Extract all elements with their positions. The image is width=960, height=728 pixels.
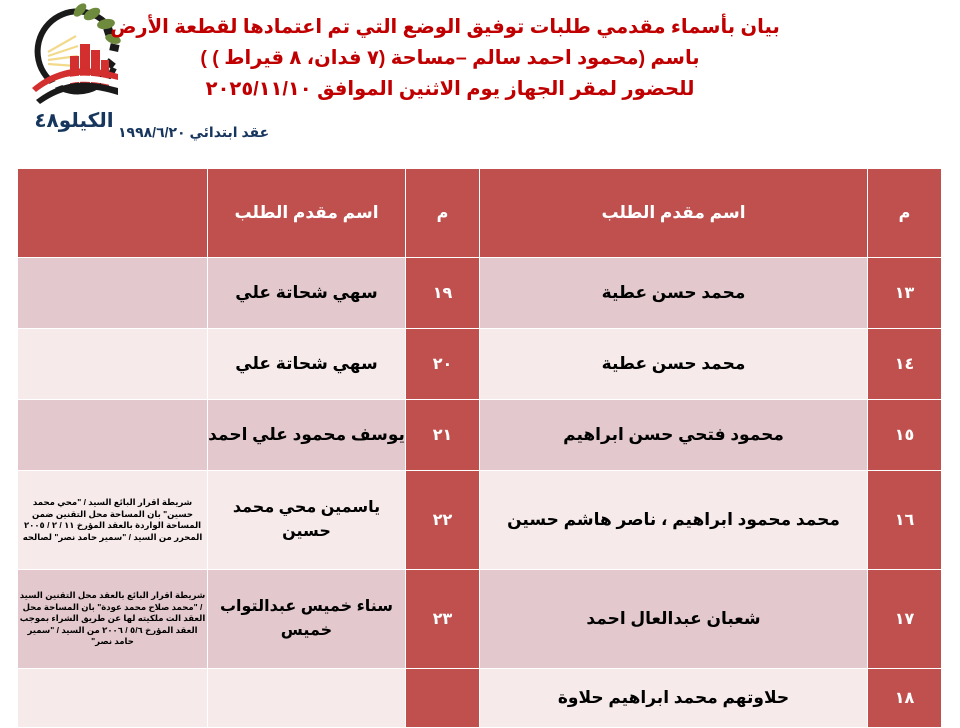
cell-name-right: محمد محمود ابراهيم ، ناصر هاشم حسين (480, 471, 868, 570)
cell-note (18, 669, 208, 728)
cell-name-left: يوسف محمود علي احمد (208, 400, 406, 471)
cell-note (18, 258, 208, 329)
cell-note: شريطة اقرار البائع السيد / "محي محمد حسي… (18, 471, 208, 570)
cell-num-right: ١٥ (868, 400, 942, 471)
cell-note: شريطة اقرار البائع بالعقد محل التقنين ال… (18, 570, 208, 669)
cell-name-left: ياسمين محي محمد حسين (208, 471, 406, 570)
title-line-2: باسم (محمود احمد سالم –مساحة (٧ فدان، ٨ … (0, 43, 960, 74)
table-row: ١٨ حلاوتهم محمد ابراهيم حلاوة (18, 669, 942, 728)
cell-name-right: شعبان عبدالعال احمد (480, 570, 868, 669)
cell-num-right: ١٦ (868, 471, 942, 570)
title-line-1: بيان بأسماء مقدمي طلبات توفيق الوضع التي… (0, 12, 960, 43)
cell-num-right: ١٨ (868, 669, 942, 728)
cell-num-left: ٢١ (406, 400, 480, 471)
cell-name-right: محمد حسن عطية (480, 258, 868, 329)
cell-note (18, 400, 208, 471)
column-header-num-left: م (406, 169, 480, 258)
applicants-table: م اسم مقدم الطلب م اسم مقدم الطلب ١٣ محم… (17, 168, 942, 728)
table-header-row: م اسم مقدم الطلب م اسم مقدم الطلب (18, 169, 942, 258)
cell-name-left: سناء خميس عبدالتواب خميس (208, 570, 406, 669)
cell-note (18, 329, 208, 400)
cell-num-left: ٢٣ (406, 570, 480, 669)
column-header-num-right: م (868, 169, 942, 258)
title-line-3: للحضور لمقر الجهاز يوم الاثنين الموافق ٢… (0, 74, 960, 105)
table-row: ١٧ شعبان عبدالعال احمد ٢٣ سناء خميس عبدا… (18, 570, 942, 669)
table-body: ١٣ محمد حسن عطية ١٩ سهي شحاتة علي ١٤ محم… (18, 258, 942, 728)
table-row: ١٣ محمد حسن عطية ١٩ سهي شحاتة علي (18, 258, 942, 329)
table-row: ١٦ محمد محمود ابراهيم ، ناصر هاشم حسين ٢… (18, 471, 942, 570)
cell-name-right: محمد حسن عطية (480, 329, 868, 400)
column-header-name-right: اسم مقدم الطلب (480, 169, 868, 258)
cell-name-right: حلاوتهم محمد ابراهيم حلاوة (480, 669, 868, 728)
document-title: بيان بأسماء مقدمي طلبات توفيق الوضع التي… (0, 12, 960, 105)
table-header: م اسم مقدم الطلب م اسم مقدم الطلب (18, 169, 942, 258)
cell-num-right: ١٣ (868, 258, 942, 329)
cell-num-left: ١٩ (406, 258, 480, 329)
cell-name-left: سهي شحاتة علي (208, 258, 406, 329)
logo-caption: الكيلو٤٨ (16, 108, 132, 133)
cell-num-left: ٢٢ (406, 471, 480, 570)
cell-name-left (208, 669, 406, 728)
cell-num-left: ٢٠ (406, 329, 480, 400)
cell-num-right: ١٧ (868, 570, 942, 669)
table-row: ١٤ محمد حسن عطية ٢٠ سهي شحاتة علي (18, 329, 942, 400)
column-header-name-left: اسم مقدم الطلب (208, 169, 406, 258)
column-header-note (18, 169, 208, 258)
applicants-table-container: م اسم مقدم الطلب م اسم مقدم الطلب ١٣ محم… (18, 168, 942, 728)
table-row: ١٥ محمود فتحي حسن ابراهيم ٢١ يوسف محمود … (18, 400, 942, 471)
page-header: الكيلو٤٨ بيان بأسماء مقدمي طلبات توفيق ا… (0, 0, 960, 162)
contract-date-note: عقد ابتدائي ١٩٩٨/٦/٢٠ (118, 124, 269, 141)
cell-num-left (406, 669, 480, 728)
cell-name-left: سهي شحاتة علي (208, 329, 406, 400)
cell-num-right: ١٤ (868, 329, 942, 400)
cell-name-right: محمود فتحي حسن ابراهيم (480, 400, 868, 471)
